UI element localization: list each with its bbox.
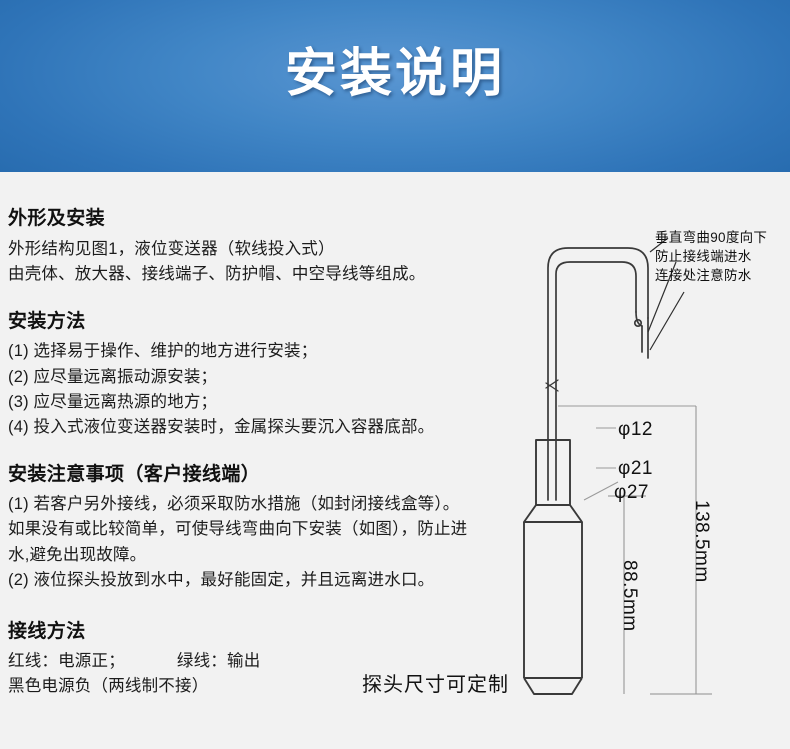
dimension-label-phi27: φ27 [614,482,649,504]
section-install-notes: 安装注意事项（客户接线端） (1) 若客户另外接线，必须采取防水措施（如封闭接线… [8,462,508,593]
section-line: 水,避免出现故障。 [8,543,508,568]
diagram-annotations: 垂直弯曲90度向下 防止接线端进水 连接处注意防水 [655,228,767,285]
section-heading-install-notes: 安装注意事项（客户接线端） [8,462,508,488]
section-line: 如果没有或比较简单，可使导线弯曲向下安装（如图），防止进 [8,517,508,542]
annotation-line-waterproof-joint: 连接处注意防水 [655,266,767,285]
dimension-label-total-length: 138.5mm [690,500,712,583]
section-line: (1) 若客户另外接线，必须采取防水措施（如封闭接线盒等）。 [8,492,508,517]
annotation-line-bend-90: 垂直弯曲90度向下 [655,228,767,247]
section-line: 外形结构见图1，液位变送器（软线投入式） [8,237,508,262]
leader-line-phi27 [584,482,618,500]
annotation-leader-3 [650,292,684,350]
section-line: (1) 选择易于操作、维护的地方进行安装； [8,339,508,364]
wire-green-label: 绿线：输出 [177,652,261,670]
probe-taper-top [524,505,582,522]
dimension-label-body-length: 88.5mm [618,560,640,632]
probe-body-group [524,440,582,694]
instruction-content: 外形及安装 外形结构见图1，液位变送器（软线投入式） 由壳体、放大器、接线端子、… [8,178,508,700]
wire-red-label: 红线：电源正； [8,652,125,670]
section-line: (4) 投入式液位变送器安装时，金属探头要沉入容器底部。 [8,415,508,440]
probe-upper-housing [536,440,570,505]
section-line: (3) 应尽量远离热源的地方； [8,390,508,415]
section-heading-install-method: 安装方法 [8,309,508,335]
probe-custom-size-note: 探头尺寸可定制 [362,668,509,697]
section-line: (2) 液位探头投放到水中，最好能固定，并且远离进水口。 [8,568,508,593]
section-line: 由壳体、放大器、接线端子、防护帽、中空导线等组成。 [8,262,508,287]
header-banner: 安装说明 [0,0,790,172]
section-line: (2) 应尽量远离振动源安装； [8,365,508,390]
dimension-label-phi12: φ12 [618,419,653,441]
section-heading-wiring-method: 接线方法 [8,619,508,645]
section-heading-shape-install: 外形及安装 [8,206,508,232]
dimension-label-phi21: φ21 [618,458,653,480]
annotation-line-prevent-water: 防止接线端进水 [655,247,767,266]
section-shape-install: 外形及安装 外形结构见图1，液位变送器（软线投入式） 由壳体、放大器、接线端子、… [8,206,508,287]
section-install-method: 安装方法 (1) 选择易于操作、维护的地方进行安装； (2) 应尽量远离振动源安… [8,309,508,440]
page-title: 安装说明 [0,46,790,103]
probe-bottom-cap [524,678,582,694]
